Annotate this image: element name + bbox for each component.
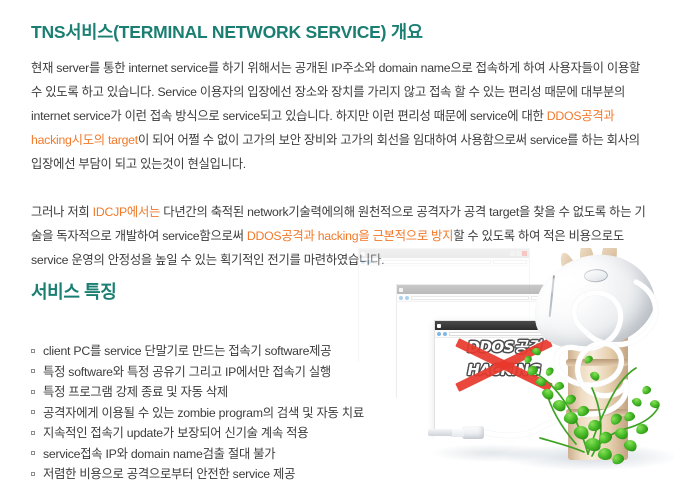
back-icon [437,332,441,336]
leaf [583,436,602,453]
paragraph-2-highlight-2: DDOS공격과 hacking을 근본적으로 방지 [247,229,453,243]
leaf [540,386,556,401]
window-controls [586,323,603,328]
leaf [623,411,636,423]
back-icon [399,296,403,300]
leaf [525,364,539,377]
leaf [576,404,591,418]
leaf [563,393,577,407]
window-controls [548,287,565,292]
plug-tip [428,429,452,436]
features-heading: 서비스 특징 [31,278,116,304]
list-item: service접속 IP와 domain name검출 절대 불가 [31,444,364,465]
square-bullet-icon [31,390,35,394]
leaf [531,346,542,356]
list-item: 저렴한 비용으로 공격으로부터 안전한 service 제공 [31,464,364,485]
browser-toolbar [435,330,605,338]
page-viewport [397,302,567,414]
ddos-hacking-stamp: DDOS공격 HACKING [456,336,552,394]
plug-collar [450,429,464,437]
leaf [583,354,594,365]
features-list: client PC를 service 단말기로 만드는 접속기 software… [31,341,364,485]
vine-stems [336,248,680,500]
browser-window-middle [396,284,568,398]
list-item-label: 지속적인 접속기 update가 보장되어 신기술 계속 적용 [43,426,308,440]
usb-plug [428,426,484,439]
page-title: TNS서비스(TERMINAL NETWORK SERVICE) 개요 [31,19,423,44]
list-item-label: service접속 IP와 domain name검출 절대 불가 [43,447,275,461]
list-item: 특정 software와 특정 공유기 그리고 IP에서만 접속기 실행 [31,362,364,383]
title-bar [435,321,605,330]
maximize-icon [554,287,559,292]
leaf [563,411,579,426]
post-segment [568,412,628,460]
plug-body [462,426,484,439]
leaf [535,377,547,388]
square-bullet-icon [31,451,35,455]
forward-icon [443,332,447,336]
illustration: DDOS공격 HACKING [336,248,680,500]
leaf [551,398,567,413]
post-notch [566,309,628,316]
minimize-icon [548,287,553,292]
window-icon [437,324,441,328]
square-bullet-icon [31,410,35,414]
address-bar [449,332,567,336]
cable-ground-shadow [432,444,552,462]
address-bar [411,296,529,300]
leaf [572,423,591,442]
stamp-line-1: DDOS공격 [456,336,552,359]
list-item: 특정 프로그램 강제 종료 및 자동 삭제 [31,382,364,403]
post-notch [566,359,628,366]
list-item: 공격자에게 이용될 수 있는 zombie program의 검색 및 자동 치… [31,403,364,424]
browser-window-front [434,320,606,434]
maximize-icon [592,323,597,328]
square-bullet-icon [31,349,35,353]
wooden-post [568,266,628,458]
page-viewport [435,338,605,450]
browser-toolbar [397,294,567,302]
square-bullet-icon [31,431,35,435]
list-item-label: 특정 software와 특정 공유기 그리고 IP에서만 접속기 실행 [43,365,331,379]
leaf [622,438,639,454]
red-cross-stroke-1 [455,338,552,392]
list-item: 지속적인 접속기 update가 보장되어 신기술 계속 적용 [31,423,364,444]
square-bullet-icon [31,369,35,373]
red-cross-stroke-2 [455,338,552,392]
list-item-label: client PC를 service 단말기로 만드는 접속기 software… [43,344,331,358]
post-segment [568,266,628,314]
paragraph-2-segment-1: 그러나 저희 [31,205,93,219]
forward-icon [405,296,409,300]
leaf [608,411,624,426]
leaf [613,426,629,441]
minimize-icon [586,323,591,328]
list-item: client PC를 service 단말기로 만드는 접속기 software… [31,341,364,362]
wood-branch-stub [623,289,656,312]
square-bullet-icon [31,472,35,476]
search-bar [569,332,603,336]
window-icon [399,288,403,292]
post-segment [568,362,628,416]
page-viewport [359,266,529,378]
leaf [635,423,649,435]
leaf [597,430,614,446]
intro-paragraph-2: 그러나 저희 IDCJP에서는 다년간의 축적된 network기술력에의해 원… [31,200,649,272]
intro-paragraph-1: 현재 server를 통한 internet service를 하기 위해서는 … [31,56,649,176]
leaf [553,381,565,391]
mouse-cable [336,248,680,500]
leaf [544,366,555,377]
leaf [611,452,626,466]
stamp-line-2: HACKING [456,359,552,382]
leaf [649,399,661,409]
close-icon [598,323,603,328]
post-segment [568,312,628,364]
leaf [631,396,644,408]
leaf [641,384,653,395]
intro-text-block: 현재 server를 통한 internet service를 하기 위해서는 … [31,56,649,272]
list-item-label: 저렴한 비용으로 공격으로부터 안전한 service 제공 [43,467,295,481]
post-ground-shadow [506,444,674,470]
search-bar [531,296,565,300]
post-notch [566,409,628,416]
list-item-label: 공격자에게 이용될 수 있는 zombie program의 검색 및 자동 치… [43,406,364,420]
close-icon [560,287,565,292]
leaf [523,354,534,365]
leaf [597,447,613,461]
paragraph-2-highlight-1: IDCJP에서는 [93,205,160,219]
mouse-button-split [549,275,555,317]
list-item-label: 특정 프로그램 강제 종료 및 자동 삭제 [43,385,228,399]
leaf [589,370,602,383]
title-bar [397,285,567,294]
leaf [587,419,602,432]
